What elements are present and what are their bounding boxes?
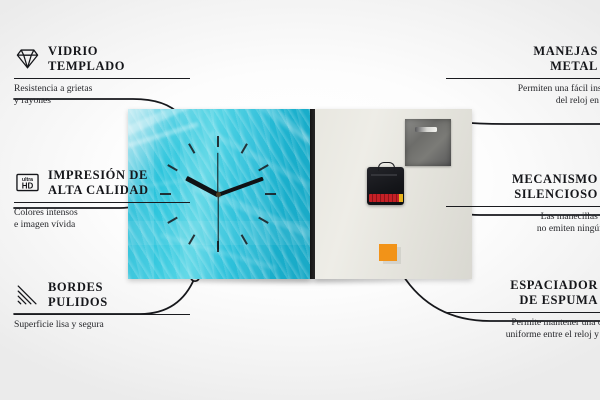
metal-hanger-plate xyxy=(405,119,451,166)
feature-manejas-metal: MANEJAS METAL Permiten una fácil instala… xyxy=(432,44,600,108)
ultra-hd-icon: ultra HD xyxy=(14,169,41,196)
mechanism-detail xyxy=(371,174,397,176)
clock-mechanism xyxy=(367,167,404,205)
feature-title: MANEJAS METAL xyxy=(533,44,598,74)
feature-description: Permite mantener una distancia uniforme … xyxy=(432,317,600,342)
feature-impresion-alta-calidad: ultra HD IMPRESIÓN DE ALTA CALIDAD Color… xyxy=(14,168,214,232)
feature-description: Superficie lisa y segura xyxy=(14,319,214,332)
feature-title: MECANISMO SILENCIOSO xyxy=(512,172,598,202)
feature-title: VIDRIO TEMPLADO xyxy=(48,44,125,74)
polished-edges-icon xyxy=(14,281,41,308)
feature-vidrio-templado: VIDRIO TEMPLADO Resistencia a grietas y … xyxy=(14,44,214,108)
feature-mecanismo-silencioso: MECANISMO SILENCIOSO Las manecillas del … xyxy=(432,172,600,236)
diamond-icon xyxy=(14,45,41,72)
foam-spacer xyxy=(379,244,397,261)
clock-second-hand xyxy=(217,195,218,250)
battery-terminal xyxy=(399,194,403,202)
mechanism-hook xyxy=(378,162,395,171)
feature-bordes-pulidos: BORDES PULIDOS Superficie lisa y segura xyxy=(14,280,214,331)
clock-tick xyxy=(217,136,219,147)
feature-espaciador-espuma: ESPACIADOR DE ESPUMA Permite mantener un… xyxy=(432,278,600,342)
divider xyxy=(14,314,190,315)
divider xyxy=(446,78,600,79)
feature-title: IMPRESIÓN DE ALTA CALIDAD xyxy=(48,168,149,198)
feature-description: Las manecillas del reloj no emiten ningú… xyxy=(432,211,600,236)
divider xyxy=(14,202,190,203)
svg-text:HD: HD xyxy=(22,182,34,191)
divider xyxy=(14,78,190,79)
feature-title: BORDES PULIDOS xyxy=(48,280,108,310)
feature-description: Colores intensos e imagen vívida xyxy=(14,207,214,232)
divider xyxy=(446,206,600,207)
hanger-slot xyxy=(415,127,437,132)
clock-second-hand-tail xyxy=(217,153,218,195)
clock-center-hub xyxy=(216,192,221,197)
divider xyxy=(446,312,600,313)
battery xyxy=(369,194,400,202)
product-infographic: VIDRIO TEMPLADO Resistencia a grietas y … xyxy=(0,0,600,400)
clock-tick xyxy=(265,193,276,195)
feature-description: Resistencia a grietas y rayones xyxy=(14,83,214,108)
feature-description: Permiten una fácil instalación del reloj… xyxy=(432,83,600,108)
feature-title: ESPACIADOR DE ESPUMA xyxy=(510,278,598,308)
